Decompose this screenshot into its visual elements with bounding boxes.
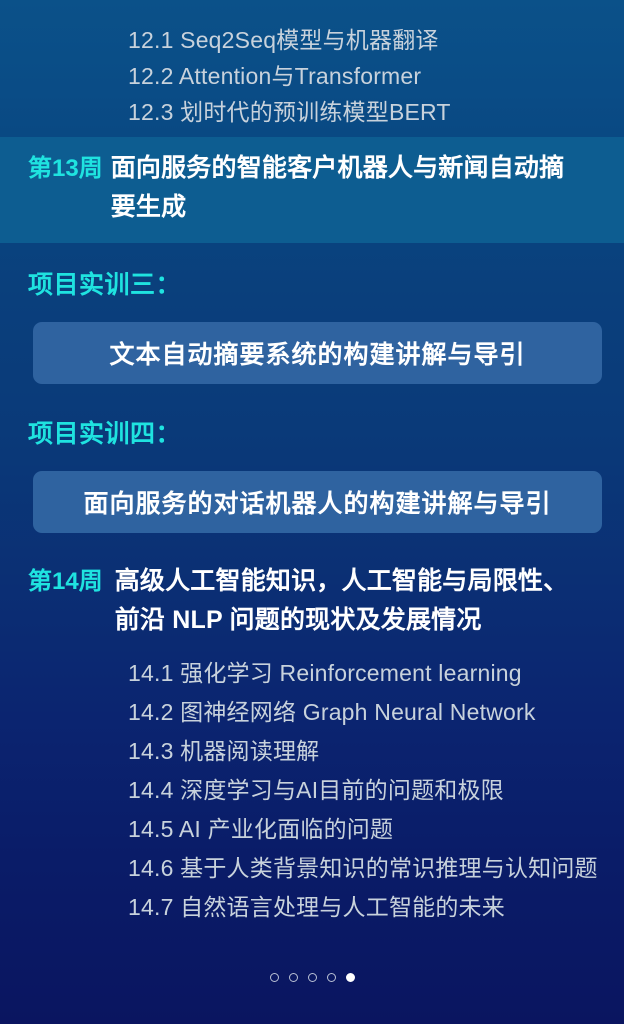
list-item: 14.4 深度学习与AI目前的问题和极限 [128,771,624,810]
pagination-dot-5[interactable] [346,973,355,982]
project-4-box[interactable]: 面向服务的对话机器人的构建讲解与导引 [33,471,602,533]
pagination-dots[interactable] [0,973,624,982]
list-item: 14.3 机器阅读理解 [128,732,624,771]
week14-title: 高级人工智能知识，人工智能与局限性、前沿 NLP 问题的现状及发展情况 [115,562,585,640]
pagination-dot-4[interactable] [327,973,336,982]
list-item: 12.1 Seq2Seq模型与机器翻译 [0,22,624,58]
list-item: 14.5 AI 产业化面临的问题 [128,810,624,849]
week13-heading: 第13周 面向服务的智能客户机器人与新闻自动摘要生成 [28,149,598,227]
list-item: 12.2 Attention与Transformer [0,58,624,94]
list-item: 14.7 自然语言处理与人工智能的未来 [128,888,624,927]
week14-section: 第14周 高级人工智能知识，人工智能与局限性、前沿 NLP 问题的现状及发展情况… [0,562,624,927]
week14-subitem-list: 14.1 强化学习 Reinforcement learning 14.2 图神… [0,654,624,927]
week13-title: 面向服务的智能客户机器人与新闻自动摘要生成 [111,149,571,227]
week14-heading: 第14周 高级人工智能知识，人工智能与局限性、前沿 NLP 问题的现状及发展情况 [0,562,624,640]
week13-tag: 第13周 [28,149,103,188]
slide-screen: 12.1 Seq2Seq模型与机器翻译 12.2 Attention与Trans… [0,0,624,1024]
week14-tag: 第14周 [28,562,103,601]
project-3-label: 项目实训三： [28,265,181,301]
project-3-box-text: 文本自动摘要系统的构建讲解与导引 [109,335,525,371]
list-item: 14.6 基于人类背景知识的常识推理与认知问题 [128,849,624,888]
week12-subitem-list: 12.1 Seq2Seq模型与机器翻译 12.2 Attention与Trans… [0,22,624,130]
pagination-dot-2[interactable] [289,973,298,982]
list-item: 14.1 强化学习 Reinforcement learning [128,654,624,693]
project-4-box-text: 面向服务的对话机器人的构建讲解与导引 [83,484,551,520]
list-item: 14.2 图神经网络 Graph Neural Network [128,693,624,732]
week13-highlight-band: 第13周 面向服务的智能客户机器人与新闻自动摘要生成 [0,137,624,243]
pagination-dot-3[interactable] [308,973,317,982]
project-4-label: 项目实训四： [28,414,181,450]
week13-row: 第13周 面向服务的智能客户机器人与新闻自动摘要生成 [0,137,624,227]
list-item: 12.3 划时代的预训练模型BERT [0,94,624,130]
project-3-box[interactable]: 文本自动摘要系统的构建讲解与导引 [33,322,602,384]
pagination-dot-1[interactable] [270,973,279,982]
